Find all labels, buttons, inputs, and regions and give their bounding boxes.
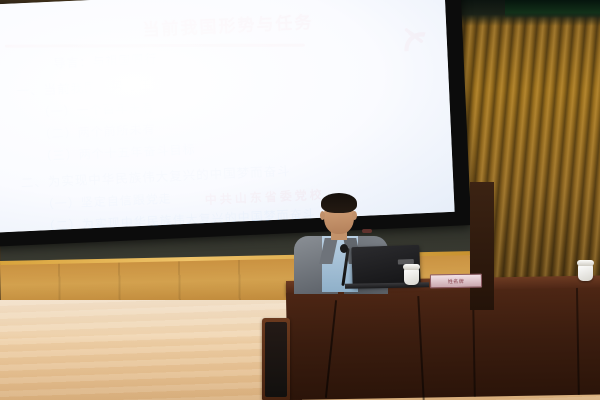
projection-screen-frame: 当前我国形势与任务 导言：与祖国同行 一、当前我国形势与任务 （一）一个百年未有… [0, 0, 471, 247]
chair-seat [265, 322, 287, 397]
speaker-ear [320, 211, 325, 220]
chair-right [470, 182, 494, 310]
speaker-hair [321, 193, 357, 213]
teacup [578, 264, 593, 281]
teacup-lid [577, 260, 594, 266]
name-plate: 姓名牌 [430, 274, 482, 289]
speaker-ear [352, 211, 357, 220]
name-plate-text: 姓名牌 [448, 277, 465, 284]
teacup [404, 268, 419, 285]
chair-left-foreground [262, 318, 290, 400]
teacup-lid [403, 264, 420, 270]
ceiling-foliage [505, 0, 600, 18]
microphone-icon [340, 244, 348, 253]
hammer-and-sickle-emblem [398, 25, 434, 61]
conference-scene: 当前我国形势与任务 导言：与祖国同行 一、当前我国形势与任务 （一）一个百年未有… [0, 0, 600, 400]
speaker-mouth [362, 229, 372, 233]
conference-table [286, 288, 600, 400]
table-seam [576, 288, 580, 395]
